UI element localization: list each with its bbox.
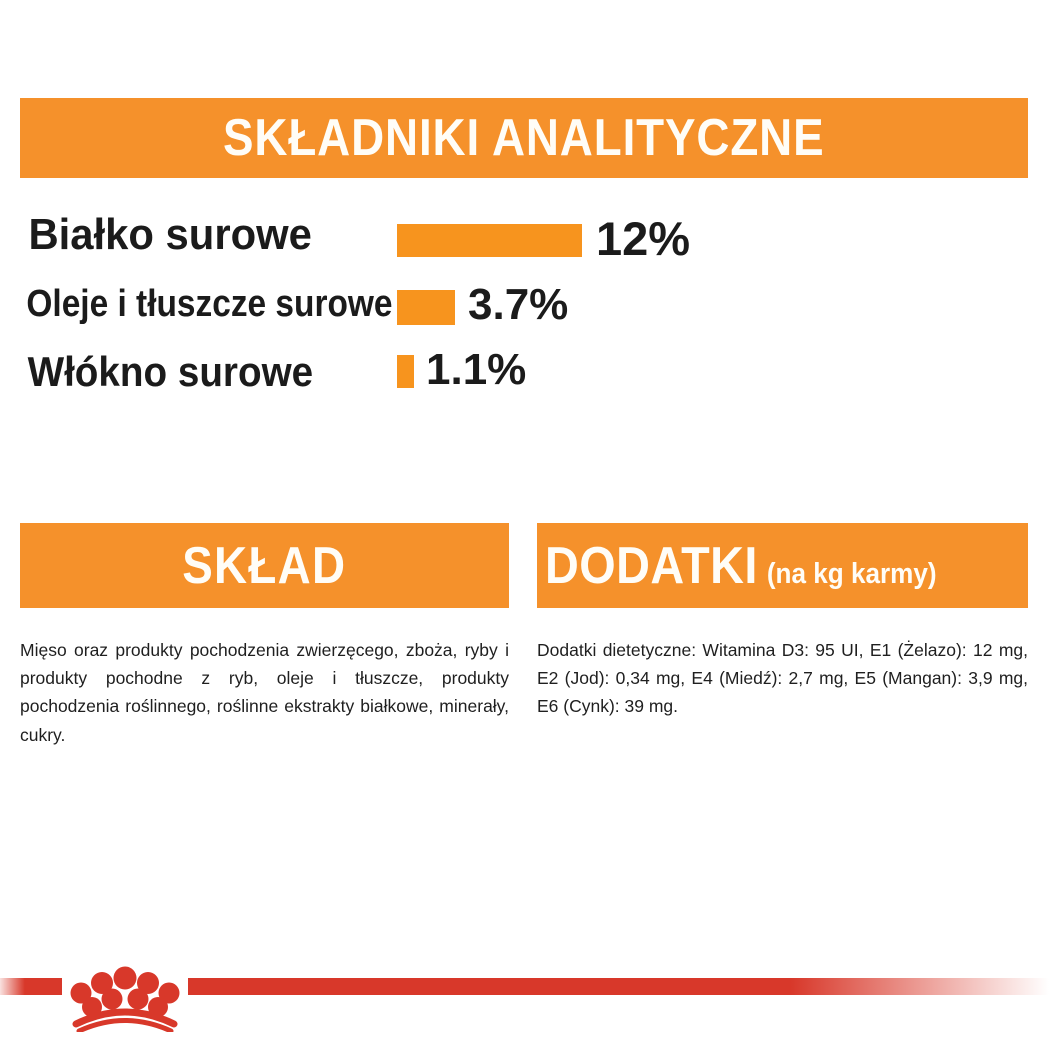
product-info-panel: SKŁADNIKI ANALITYCZNE Białko surowe 12% … (0, 0, 1049, 1049)
composition-body-text: Mięso oraz produkty pochodzenia zwierzęc… (20, 636, 509, 749)
nutrient-value-fibre: 1.1% (426, 348, 526, 392)
nutrient-bar-chart: Białko surowe 12% Oleje i tłuszcze surow… (0, 205, 1049, 405)
nutrient-value-fats: 3.7% (468, 283, 568, 327)
nutrient-bar-protein (397, 224, 582, 257)
brand-footer (0, 960, 1049, 1049)
additives-title: DODATKI (545, 540, 758, 592)
additives-subtitle: (na kg karmy) (767, 560, 937, 589)
nutrient-row: Oleje i tłuszcze surowe 3.7% (0, 275, 1049, 345)
nutrient-value-protein: 12% (596, 215, 690, 262)
composition-title: SKŁAD (182, 540, 346, 592)
analytical-constituents-title: SKŁADNIKI ANALITYCZNE (223, 112, 824, 164)
additives-title-group: DODATKI (na kg karmy) (545, 540, 937, 592)
footer-rule-left (0, 978, 62, 995)
royal-canin-crown-icon (62, 960, 188, 1032)
nutrient-label-fibre: Włókno surowe (0, 351, 327, 393)
nutrient-row: Białko surowe 12% (0, 205, 1049, 280)
additives-body-text: Dodatki dietetyczne: Witamina D3: 95 UI,… (537, 636, 1028, 721)
nutrient-label-protein: Białko surowe (0, 213, 337, 257)
nutrient-bar-fats (397, 290, 455, 325)
nutrient-bar-fibre (397, 355, 414, 388)
analytical-constituents-banner: SKŁADNIKI ANALITYCZNE (20, 98, 1028, 178)
footer-rule-right (188, 978, 1049, 995)
nutrient-label-fats: Oleje i tłuszcze surowe (0, 285, 312, 323)
nutrient-row: Włókno surowe 1.1% (0, 341, 1049, 411)
additives-banner: DODATKI (na kg karmy) (537, 523, 1028, 608)
composition-banner: SKŁAD (20, 523, 509, 608)
